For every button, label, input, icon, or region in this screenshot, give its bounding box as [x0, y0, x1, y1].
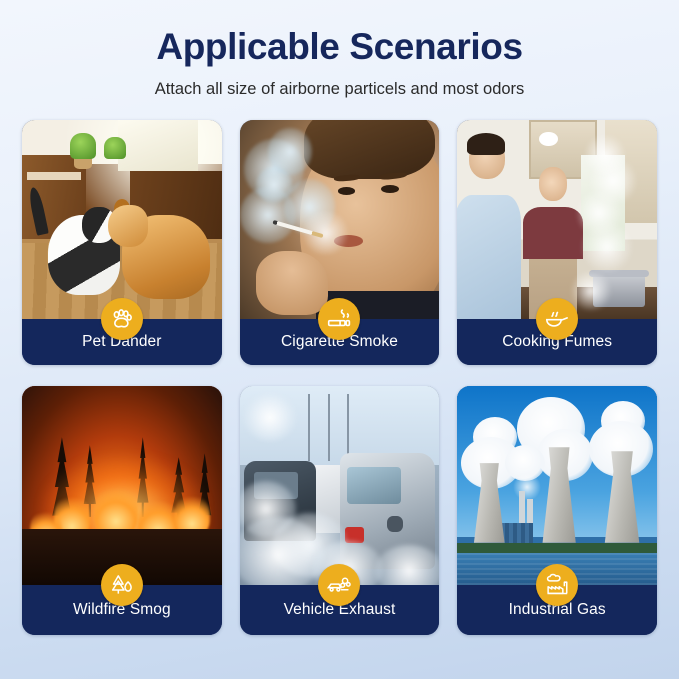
- scenario-photo-pet-dander: [22, 120, 222, 319]
- scenario-label-bar: Pet Dander: [22, 319, 222, 365]
- scenario-card-cooking-fumes[interactable]: Cooking Fumes: [457, 120, 657, 365]
- scenario-photo-wildfire-smog: [22, 386, 222, 585]
- scenario-card-vehicle-exhaust[interactable]: Vehicle Exhaust: [240, 386, 440, 635]
- applicable-scenarios-page: Applicable Scenarios Attach all size of …: [0, 0, 679, 679]
- factory-icon: [536, 564, 578, 606]
- scenario-label-bar: Vehicle Exhaust: [240, 585, 440, 635]
- scenario-card-pet-dander[interactable]: Pet Dander: [22, 120, 222, 365]
- scenario-label-bar: Industrial Gas: [457, 585, 657, 635]
- page-subtitle: Attach all size of airborne particels an…: [22, 80, 657, 99]
- scenario-label-bar: Cooking Fumes: [457, 319, 657, 365]
- scenario-grid-row-1: Pet Dander: [22, 120, 657, 365]
- scenario-photo-vehicle-exhaust: [240, 386, 440, 585]
- scenario-photo-cigarette-smoke: [240, 120, 440, 319]
- scenario-label-bar: Wildfire Smog: [22, 585, 222, 635]
- car-exhaust-icon: [318, 564, 360, 606]
- scenario-card-cigarette-smoke[interactable]: Cigarette Smoke: [240, 120, 440, 365]
- page-header: Applicable Scenarios Attach all size of …: [22, 0, 657, 99]
- scenario-photo-cooking-fumes: [457, 120, 657, 319]
- cigarette-icon: [318, 298, 360, 340]
- scenario-card-industrial-gas[interactable]: Industrial Gas: [457, 386, 657, 635]
- burning-trees-icon: [101, 564, 143, 606]
- scenario-label-bar: Cigarette Smoke: [240, 319, 440, 365]
- scenario-grid-row-2: Wildfire Smog: [22, 386, 657, 635]
- scenario-card-wildfire-smog[interactable]: Wildfire Smog: [22, 386, 222, 635]
- frying-pan-icon: [536, 298, 578, 340]
- page-title: Applicable Scenarios: [22, 26, 657, 69]
- scenario-photo-industrial-gas: [457, 386, 657, 585]
- paw-print-icon: [101, 298, 143, 340]
